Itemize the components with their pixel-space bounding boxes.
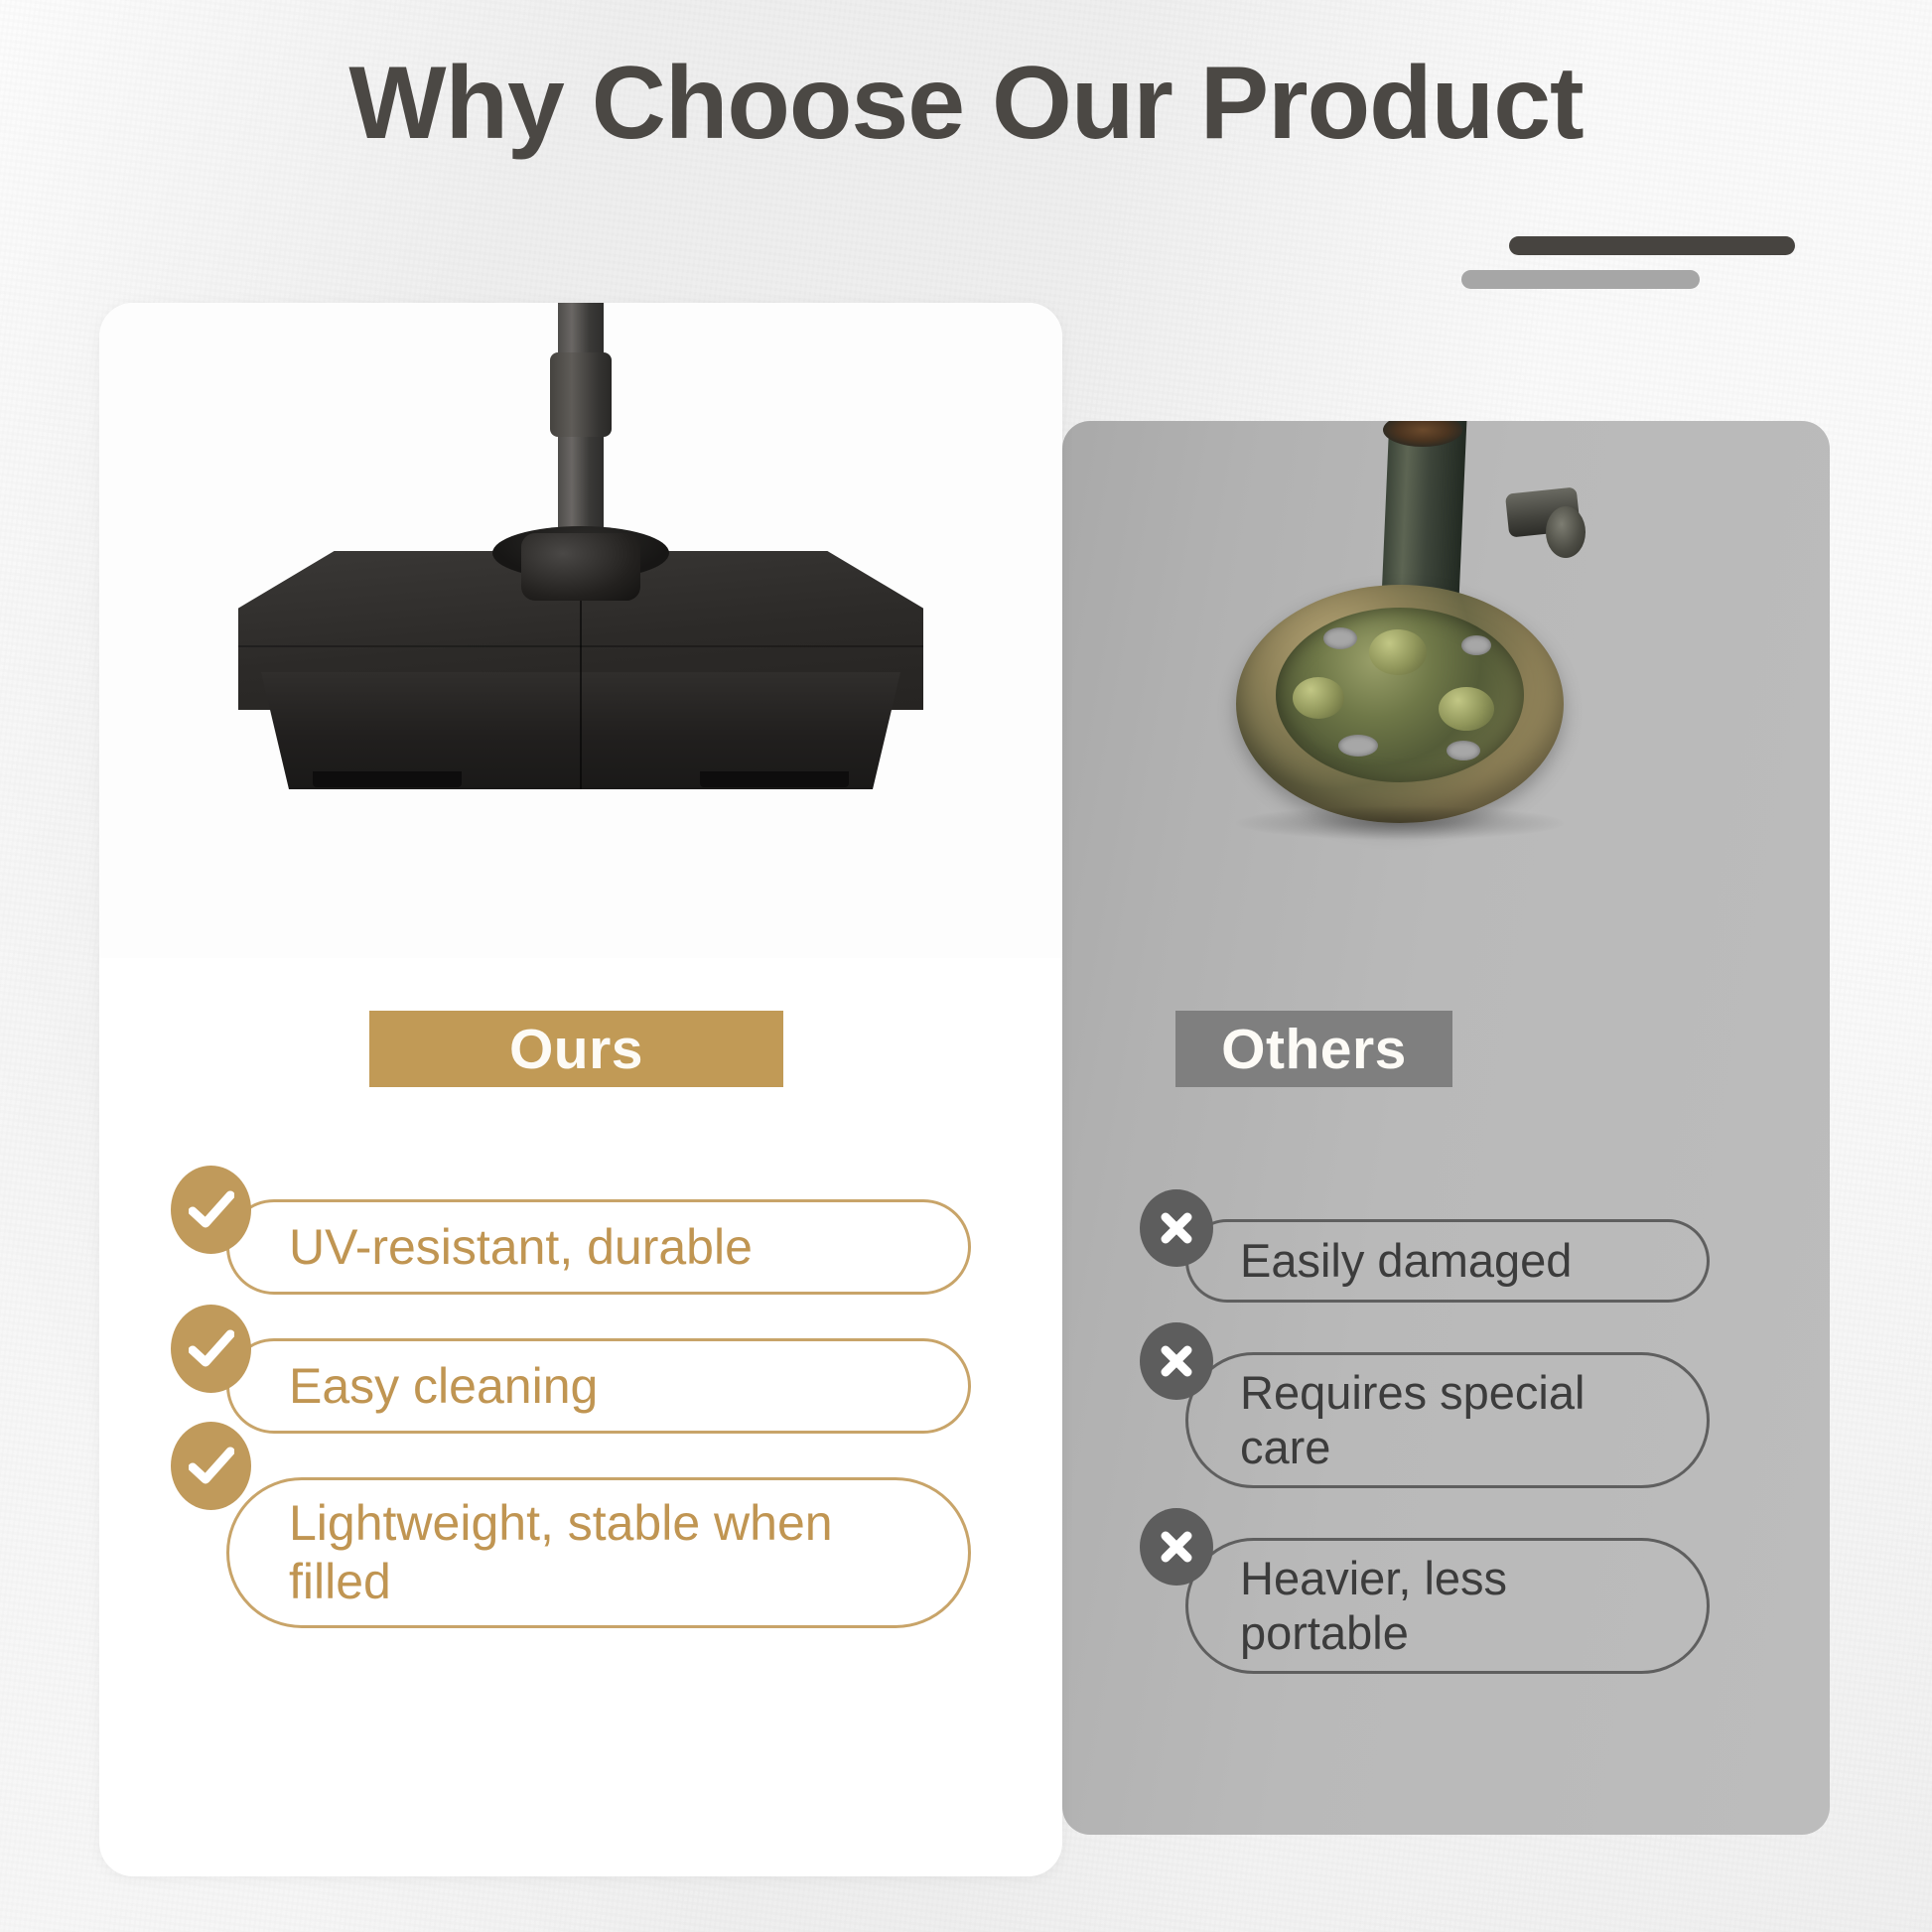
page-title: Why Choose Our Product: [0, 48, 1932, 159]
feature-label: Easily damaged: [1240, 1233, 1572, 1288]
feature-pill[interactable]: Easy cleaning: [226, 1338, 971, 1434]
pole-collar: [550, 352, 612, 437]
badge-others-label: Others: [1221, 1017, 1407, 1082]
feature-label: Easy cleaning: [289, 1357, 598, 1416]
badge-ours: Ours: [369, 1011, 783, 1087]
feature-pill[interactable]: UV-resistant, durable: [226, 1199, 971, 1295]
feature-pill[interactable]: Heavier, less portable: [1185, 1538, 1710, 1674]
list-item[interactable]: UV-resistant, durable: [171, 1199, 1025, 1295]
x-icon: [1140, 1189, 1213, 1267]
iron-flower-motif: [1293, 677, 1344, 719]
x-icon: [1140, 1322, 1213, 1400]
ours-product-image: [99, 303, 1062, 958]
x-icon: [1140, 1508, 1213, 1586]
feature-label: UV-resistant, durable: [289, 1218, 753, 1277]
list-item[interactable]: Requires special care: [1140, 1352, 1755, 1488]
badge-ours-label: Ours: [509, 1017, 643, 1082]
feature-label: Lightweight, stable when filled: [289, 1494, 942, 1611]
decor-bar-light: [1461, 270, 1700, 289]
base-seam-horizontal: [238, 645, 923, 647]
feature-label: Heavier, less portable: [1240, 1551, 1685, 1661]
decor-bar-dark: [1509, 236, 1795, 255]
list-item[interactable]: Easy cleaning: [171, 1338, 1025, 1434]
others-product-image: [1062, 421, 1830, 977]
list-item[interactable]: Easily damaged: [1140, 1219, 1755, 1303]
base-foot: [313, 771, 462, 787]
iron-flower-motif: [1369, 629, 1427, 675]
iron-cutout: [1447, 741, 1480, 760]
badge-others: Others: [1175, 1011, 1452, 1087]
list-item[interactable]: Heavier, less portable: [1140, 1538, 1755, 1674]
feature-pill[interactable]: Requires special care: [1185, 1352, 1710, 1488]
check-icon: [171, 1166, 251, 1254]
list-item[interactable]: Lightweight, stable when filled: [171, 1477, 1025, 1628]
ours-feature-list: UV-resistant, durable Easy cleaning Ligh…: [171, 1199, 1025, 1628]
check-icon: [171, 1422, 251, 1510]
check-icon: [171, 1305, 251, 1393]
base-hub: [521, 533, 640, 601]
base-seam-vertical: [580, 601, 582, 789]
iron-cutout: [1461, 635, 1491, 655]
iron-cutout: [1323, 627, 1357, 649]
iron-base-shadow: [1236, 806, 1564, 840]
feature-pill[interactable]: Lightweight, stable when filled: [226, 1477, 971, 1628]
iron-cutout: [1338, 735, 1378, 757]
feature-pill[interactable]: Easily damaged: [1185, 1219, 1710, 1303]
iron-flower-motif: [1439, 687, 1494, 731]
base-foot: [700, 771, 849, 787]
feature-label: Requires special care: [1240, 1365, 1685, 1475]
iron-thumb-wheel: [1546, 506, 1586, 558]
others-feature-list: Easily damaged Requires special care Hea…: [1140, 1219, 1755, 1674]
